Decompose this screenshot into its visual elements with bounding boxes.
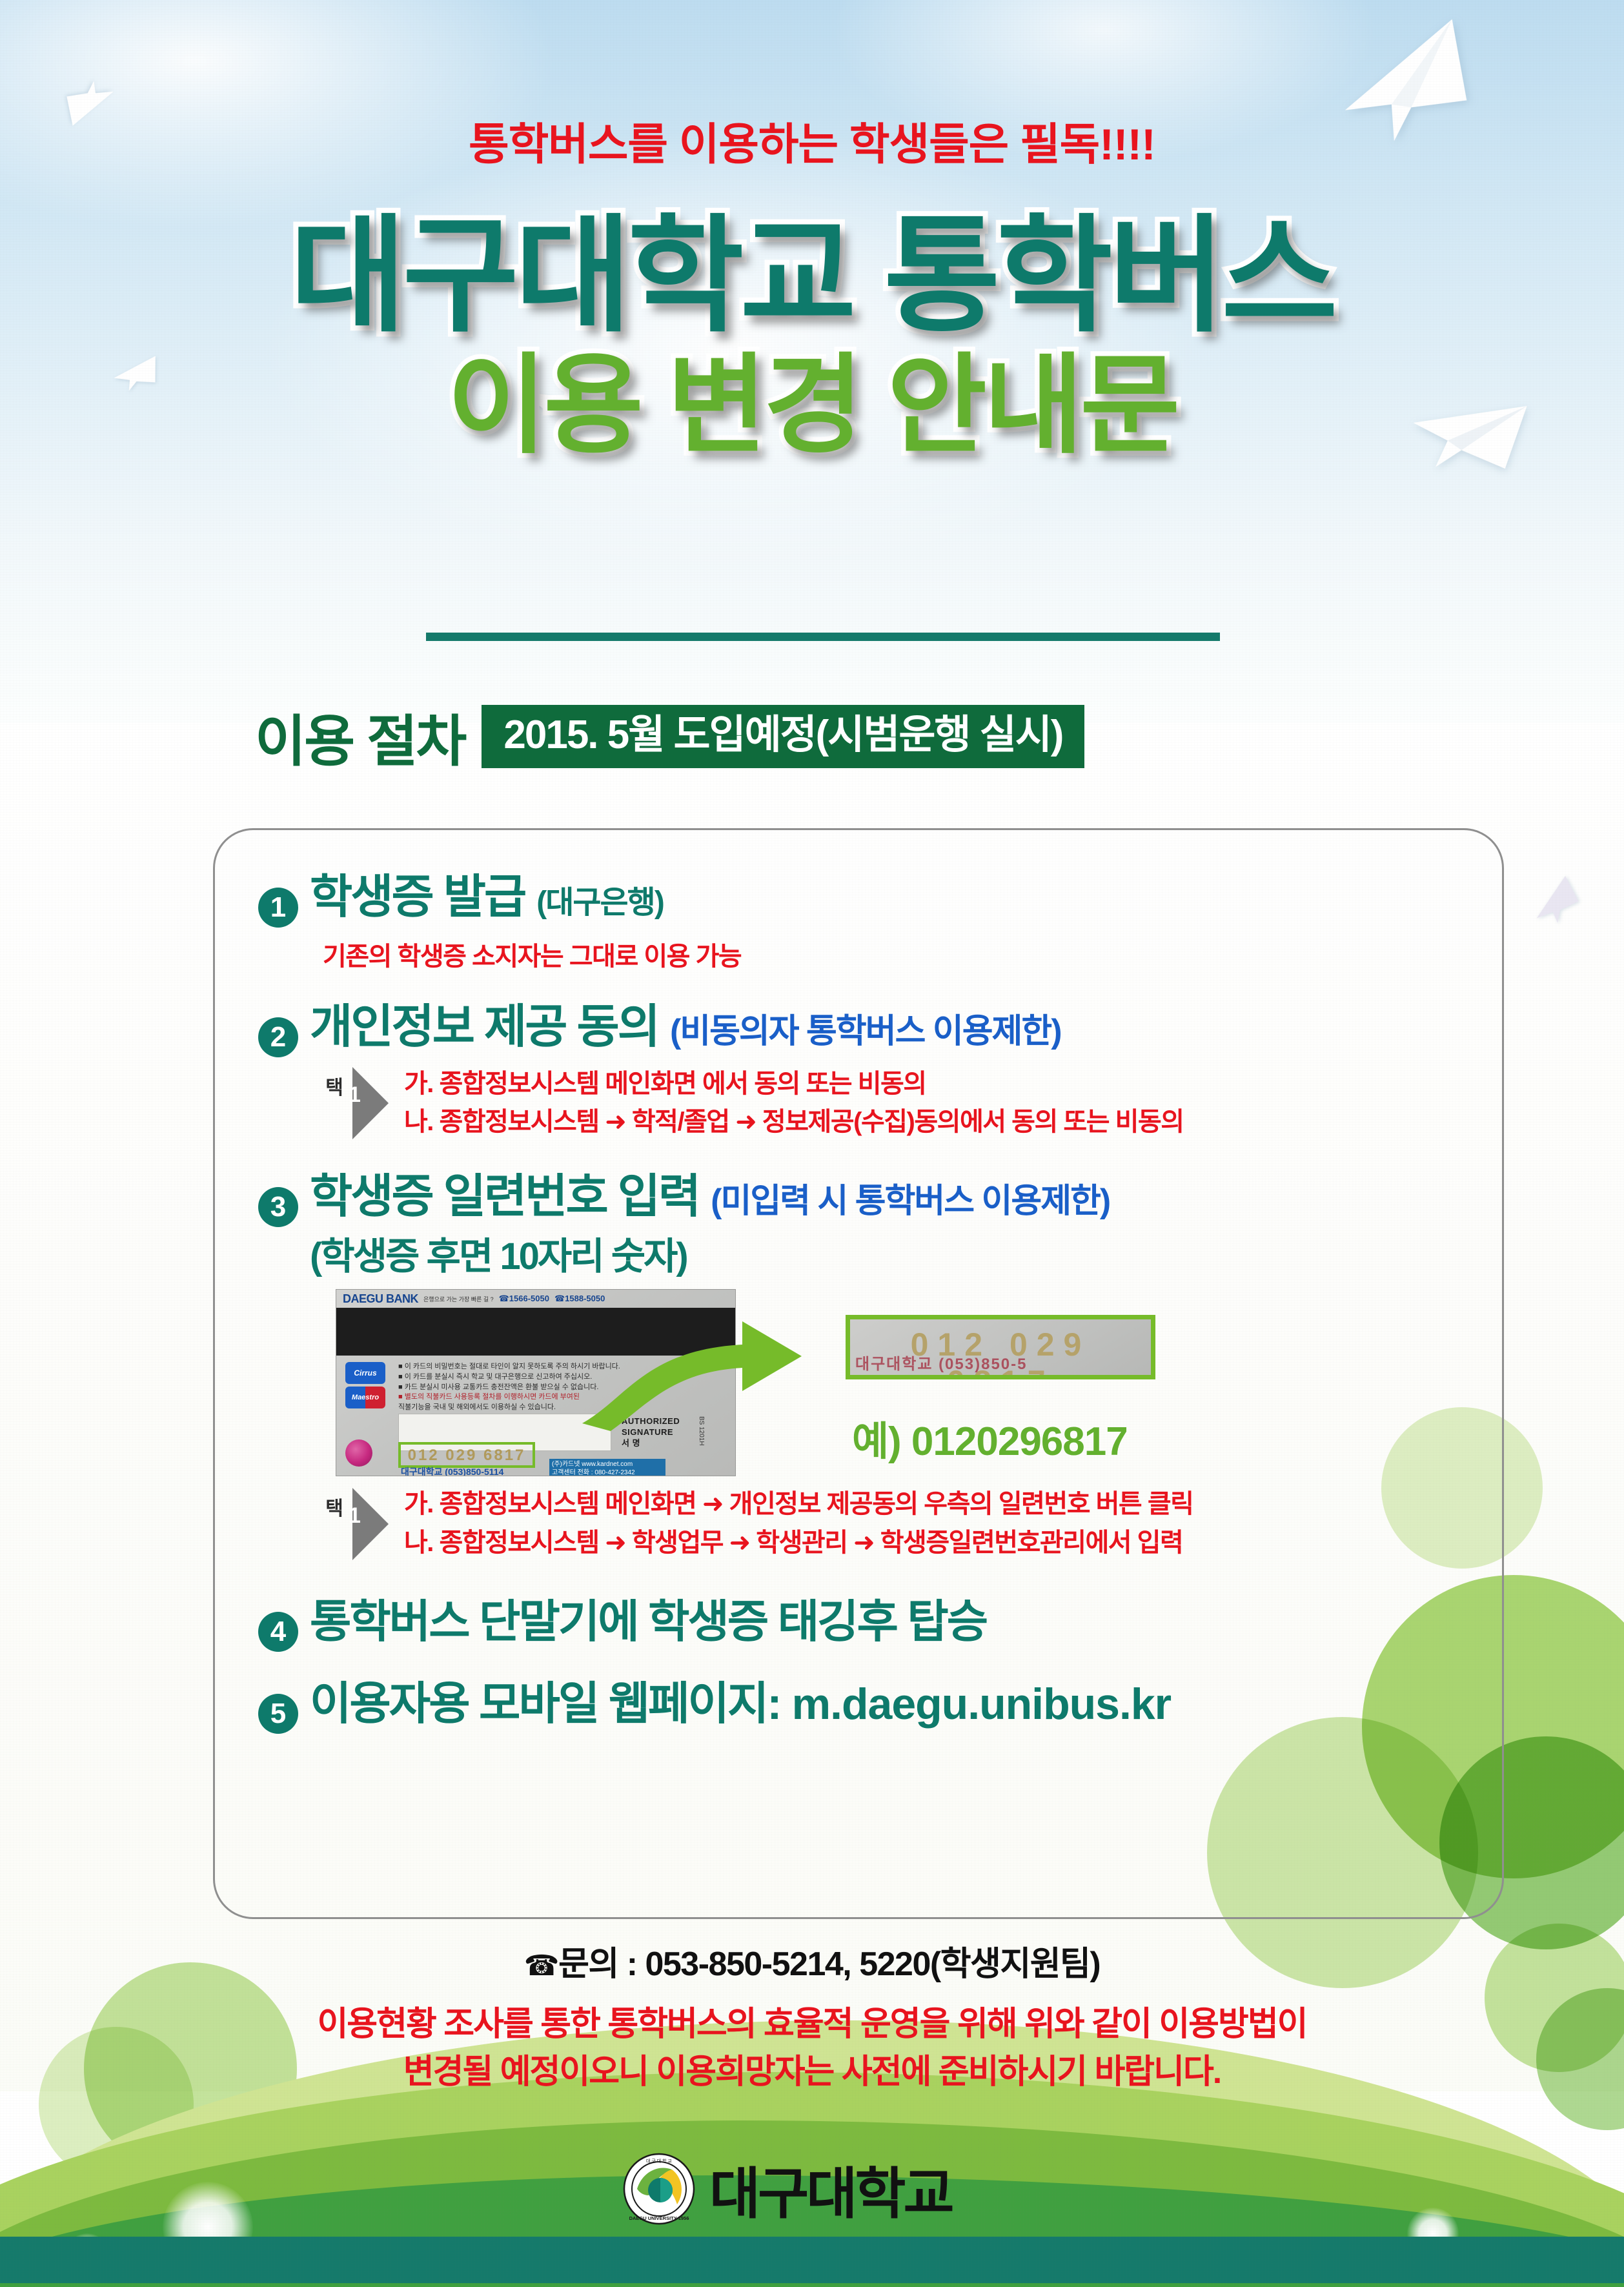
step-5: 5 이용자용 모바일 웹페이지: m.daegu.unibus.kr <box>258 1667 1485 1733</box>
bank-slogan: 은행으로 가는 가장 빠른 길 ? <box>423 1295 494 1303</box>
svg-text:DAEGU UNIVERSITY 1956: DAEGU UNIVERSITY 1956 <box>629 2215 689 2221</box>
poster-root: 통학버스를 이용하는 학생들은 필독!!!! 대구대학교 통학버스 이용 변경 … <box>0 0 1624 2287</box>
choose-one-marker-icon: 택 1 <box>319 1067 389 1139</box>
step-title: 개인정보 제공 동의 <box>310 988 658 1056</box>
step-number-badge: 4 <box>258 1612 298 1652</box>
cirrus-logo-icon: Cirrus <box>345 1362 385 1384</box>
svg-text:대 구 대 학 교: 대 구 대 학 교 <box>646 2158 673 2164</box>
university-emblem-icon: 대 구 대 학 교 DAEGU UNIVERSITY 1956 <box>623 2153 695 2225</box>
university-name: 대구대학교 <box>709 2148 952 2229</box>
card-network-logos: Cirrus Maestro <box>345 1362 391 1408</box>
choose-count: 1 <box>349 1503 361 1529</box>
card-figure: DAEGU BANK 은행으로 가는 가장 빠른 길 ? ☎1566-5050 … <box>336 1289 1485 1483</box>
kicker-headline: 통학버스를 이용하는 학생들은 필독!!!! <box>0 108 1624 172</box>
choose-one-block: 택 1 가. 종합정보시스템 메인화면 ➜ 개인정보 제공동의 우측의 일련번호… <box>319 1485 1485 1561</box>
step-number-badge: 5 <box>258 1694 298 1734</box>
footer-message-line-1: 이용현황 조사를 통한 통학버스의 효율적 운영을 위해 위와 같이 이용방법이 <box>0 2001 1624 2049</box>
card-serial-number: 012 029 6817 <box>398 1442 535 1468</box>
choose-one-block: 택 1 가. 종합정보시스템 메인화면 에서 동의 또는 비동의 나. 종합정보… <box>319 1065 1485 1141</box>
mobile-webpage-url[interactable]: m.daegu.unibus.kr <box>792 1679 1172 1729</box>
choose-label: 택 <box>321 1079 347 1097</box>
serial-example-text: 예) 0120296817 <box>852 1408 1128 1467</box>
choose-option: 가. 종합정보시스템 메인화면 ➜ 개인정보 제공동의 우측의 일련번호 버튼 … <box>404 1485 1193 1523</box>
step-subtitle: (학생증 후면 10자리 숫자) <box>310 1226 1485 1280</box>
step-note: 기존의 학생증 소지자는 그대로 이용 가능 <box>323 935 1485 973</box>
step-4: 4 통학버스 단말기에 학생증 태깅후 탑승 <box>258 1585 1485 1651</box>
footer-message: 이용현황 조사를 통한 통학버스의 효율적 운영을 위해 위와 같이 이용방법이… <box>0 2001 1624 2097</box>
bank-phone-1: ☎1566-5050 <box>499 1294 549 1304</box>
choose-option: 나. 종합정보시스템 ➜ 학적/졸업 ➜ 정보제공(수집)동의에서 동의 또는 … <box>404 1103 1184 1141</box>
step-number-badge: 2 <box>258 1017 298 1057</box>
step-title: 이용자용 모바일 웹페이지: <box>310 1667 780 1733</box>
title-divider <box>426 633 1220 641</box>
choose-count: 1 <box>349 1083 361 1108</box>
step-paren: (미입력 시 통학버스 이용제한) <box>711 1174 1110 1222</box>
choose-one-marker-icon: 택 1 <box>319 1488 389 1560</box>
step-1: 1 학생증 발급 (대구은행) 기존의 학생증 소지자는 그대로 이용 가능 <box>258 859 1485 973</box>
step-title: 학생증 일련번호 입력 <box>310 1158 699 1226</box>
callout-arrow-icon <box>549 1302 852 1441</box>
step-3: 3 학생증 일련번호 입력 (미입력 시 통학버스 이용제한) (학생증 후면 … <box>258 1158 1485 1561</box>
section-header: 이용 절차 2015. 5월 도입예정(시범운행 실시) <box>255 696 1084 777</box>
bank-brand: DAEGU BANK <box>343 1292 418 1306</box>
step-title: 통학버스 단말기에 학생증 태깅후 탑승 <box>310 1585 986 1651</box>
step-paren: (비동의자 통학버스 이용제한) <box>670 1004 1061 1052</box>
debit-chip-icon <box>345 1439 372 1467</box>
step-number-badge: 1 <box>258 888 298 928</box>
telephone-icon: ☎ <box>524 1950 558 1982</box>
main-title: 대구대학교 통학버스 이용 변경 안내문 <box>0 213 1624 460</box>
section-label: 이용 절차 <box>255 696 465 777</box>
choose-label: 택 <box>321 1499 347 1518</box>
kardnet-block: (주)카드넷 www.kardnet.com 고객센터 전화 : 080-427… <box>549 1459 665 1476</box>
step-2: 2 개인정보 제공 동의 (비동의자 통학버스 이용제한) 택 1 가. 종합정… <box>258 988 1485 1141</box>
footer-message-line-2: 변경될 예정이오니 이용희망자는 사전에 준비하시기 바랍니다. <box>0 2049 1624 2097</box>
card-bank-line: 대구대학교 (053)850-5114 <box>401 1465 503 1476</box>
steps-list: 1 학생증 발급 (대구은행) 기존의 학생증 소지자는 그대로 이용 가능 2… <box>258 859 1485 1736</box>
step-paren: (대구은행) <box>536 877 664 922</box>
choose-option: 나. 종합정보시스템 ➜ 학생업무 ➜ 학생관리 ➜ 학생증일련번호관리에서 입… <box>404 1524 1193 1562</box>
maestro-logo-icon: Maestro <box>345 1387 385 1408</box>
contact-line: ☎문의 : 053-850-5214, 5220(학생지원팀) <box>0 1936 1624 1985</box>
choose-option: 가. 종합정보시스템 메인화면 에서 동의 또는 비동의 <box>404 1065 1184 1103</box>
section-badge: 2015. 5월 도입예정(시범운행 실시) <box>482 705 1084 768</box>
title-line-1: 대구대학교 통학버스 <box>0 213 1624 340</box>
poster-content: 통학버스를 이용하는 학생들은 필독!!!! 대구대학교 통학버스 이용 변경 … <box>0 0 1624 2287</box>
step-title: 학생증 발급 <box>310 859 525 926</box>
step-number-badge: 3 <box>258 1187 298 1227</box>
serial-zoom-callout: 012 029 6817 대구대학교 (053)850-5 <box>846 1315 1155 1379</box>
university-logo: 대 구 대 학 교 DAEGU UNIVERSITY 1956 대구대학교 <box>623 2148 952 2229</box>
contact-text: 문의 : 053-850-5214, 5220(학생지원팀) <box>558 1946 1100 1983</box>
title-line-2: 이용 변경 안내문 <box>0 351 1624 460</box>
serial-zoom-underline-text: 대구대학교 (053)850-5 <box>855 1351 1027 1374</box>
